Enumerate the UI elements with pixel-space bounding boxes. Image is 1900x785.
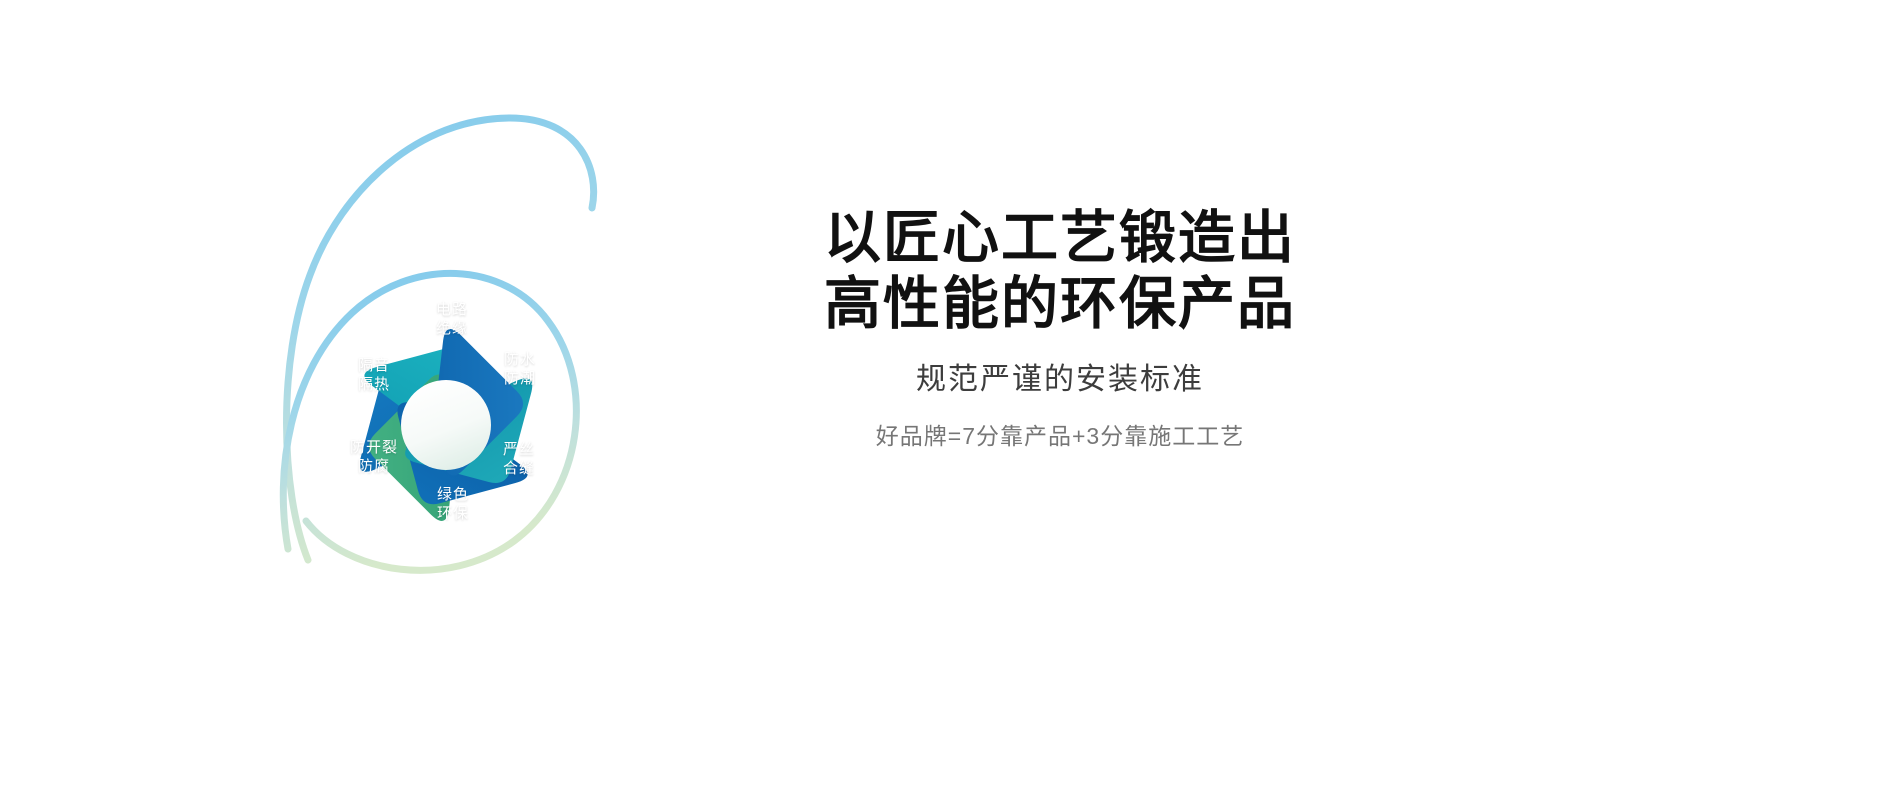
headline-line-1: 以匠心工艺锻造出 — [740, 205, 1380, 271]
subtitle: 规范严谨的安装标准 — [740, 359, 1380, 401]
headline-line-2: 高性能的环保产品 — [740, 271, 1380, 337]
six-petal-flower-diagram: 电路 绝缘 防水 防潮 严丝 合缝 绿色 环保 防开裂 防腐 隔音 隔热 — [270, 60, 630, 620]
tagline: 好品牌=7分靠产品+3分靠施工工艺 — [740, 419, 1380, 453]
marketing-copy: 以匠心工艺锻造出 高性能的环保产品 规范严谨的安装标准 好品牌=7分靠产品+3分… — [740, 205, 1380, 453]
promo-banner: 电路 绝缘 防水 防潮 严丝 合缝 绿色 环保 防开裂 防腐 隔音 隔热 以匠心… — [0, 0, 1900, 785]
petals-group — [318, 303, 573, 547]
center-circle — [401, 380, 491, 470]
